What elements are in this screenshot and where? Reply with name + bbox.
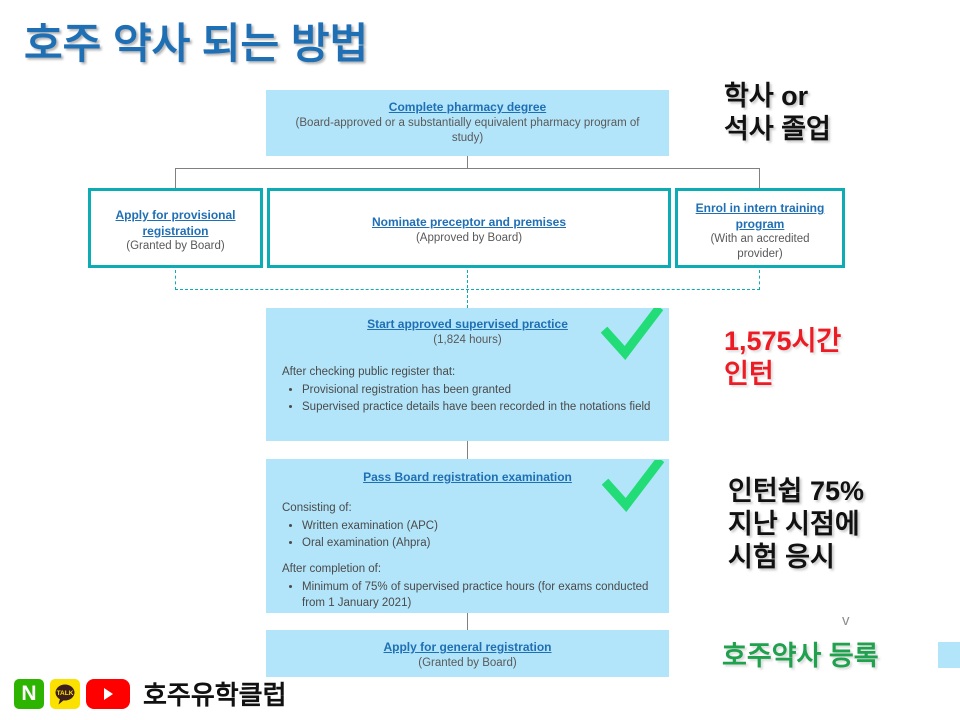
flow-step-body-intro: Consisting of: [282,500,653,516]
naver-logo-label: N [21,682,36,706]
flow-step-body: Consisting of: Written examination (APC)… [282,500,653,612]
footer-brand-bar: N TALK 호주유학클럽 [14,675,287,712]
annotation-intern-hours: 1,575시간 인턴 [724,325,841,391]
connector-degree-to-bracket [467,155,468,169]
play-icon [100,686,116,702]
kakaotalk-logo[interactable]: TALK [50,679,80,709]
page-title: 호주 약사 되는 방법 [24,10,368,71]
flow-step-subtitle: (Approved by Board) [286,231,652,246]
flow-step-apply-general-registration[interactable]: Apply for general registration (Granted … [266,630,669,677]
flow-step-title: Pass Board registration examination [282,470,653,486]
list-item: Supervised practice details have been re… [302,400,653,416]
flow-step-body: After checking public register that: Pro… [282,364,653,416]
flow-step-bullets: Provisional registration has been grante… [282,383,653,416]
green-check-icon [602,460,664,512]
flow-step-body-intro: After checking public register that: [282,364,653,380]
footer-brand-name: 호주유학클럽 [143,675,287,712]
flow-step-body-intro-2: After completion of: [282,561,653,577]
list-item: Oral examination (Ahpra) [302,536,653,552]
annotation-degree: 학사 or 석사 졸업 [724,80,831,146]
flow-step-bullets-2: Minimum of 75% of supervised practice ho… [282,580,653,612]
list-item: Written examination (APC) [302,519,653,535]
flow-step-complete-pharmacy-degree[interactable]: Complete pharmacy degree (Board-approved… [266,90,669,156]
flow-step-subtitle: (Board-approved or a substantially equiv… [288,116,647,146]
flow-step-title: Nominate preceptor and premises [286,215,652,231]
flow-step-start-supervised-practice[interactable]: Start approved supervised practice (1,82… [266,308,669,441]
flow-step-subtitle: (With an accredited provider) [688,232,832,262]
list-item: Provisional registration has been grante… [302,383,653,399]
annotation-registered: 호주약사 등록 [722,640,879,673]
flow-step-title: Start approved supervised practice [282,317,653,333]
connector-exam-to-general [467,613,468,630]
flow-step-subtitle: (Granted by Board) [282,656,653,671]
youtube-logo[interactable] [86,679,130,709]
flow-step-title: Apply for provisional registration [101,208,250,239]
green-check-icon [601,308,663,360]
corner-swatch [938,642,960,668]
flow-step-bullets: Written examination (APC) Oral examinati… [282,519,653,552]
list-item: Minimum of 75% of supervised practice ho… [302,580,653,612]
flow-step-subtitle: (Granted by Board) [101,239,250,254]
kakaotalk-logo-label: TALK [57,690,74,697]
connector-practice-to-exam [467,441,468,459]
naver-logo[interactable]: N [14,679,44,709]
connector-bracket-top [175,168,760,190]
flow-step-title: Enrol in intern training program [688,201,832,232]
annotation-exam-eligibility: 인턴쉽 75% 지난 시점에 시험 응시 [728,475,864,574]
flow-step-subtitle: (1,824 hours) [282,333,653,348]
flow-step-enrol-intern-training[interactable]: Enrol in intern training program (With a… [675,188,845,268]
connector-dashed-to-practice [467,270,468,308]
flow-step-apply-provisional-registration[interactable]: Apply for provisional registration (Gran… [88,188,263,268]
kakao-bubble-icon: TALK [52,681,78,707]
annotation-stray-mark: v [842,612,850,630]
flow-step-title: Apply for general registration [282,640,653,656]
flow-step-pass-board-examination[interactable]: Pass Board registration examination Cons… [266,459,669,613]
flow-step-title: Complete pharmacy degree [288,100,647,116]
flow-step-nominate-preceptor-premises[interactable]: Nominate preceptor and premises (Approve… [267,188,671,268]
